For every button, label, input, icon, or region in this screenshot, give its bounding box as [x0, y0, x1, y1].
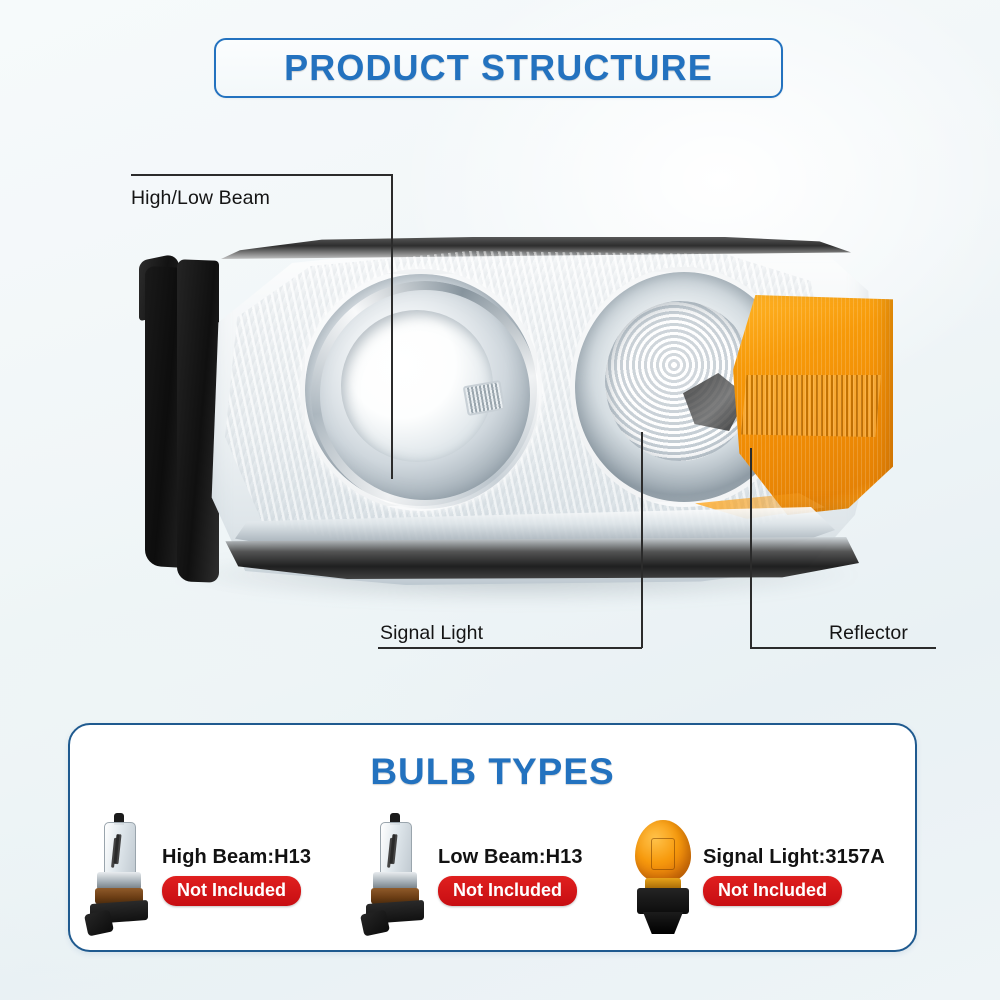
housing-rear-body-2	[177, 259, 219, 582]
amber-reflector-ribs	[741, 375, 881, 437]
infographic-page: PRODUCT STRUCTURE High/Low Beam Signal L…	[0, 0, 1000, 1000]
headlight-assembly-image	[135, 215, 895, 595]
not-included-badge-low-beam: Not Included	[438, 876, 577, 906]
bulb-item-texts: Low Beam:H13 Not Included	[438, 846, 583, 906]
bulb-item-signal-light: Signal Light:3157A Not Included	[625, 820, 901, 932]
callout-label-signal-light: Signal Light	[380, 622, 483, 645]
bulb-types-list: High Beam:H13 Not Included Low Beam:H13 …	[84, 817, 901, 935]
bulb-item-texts: High Beam:H13 Not Included	[162, 846, 311, 906]
product-structure-title-box: PRODUCT STRUCTURE	[214, 38, 783, 98]
bulb-label-high-beam: High Beam:H13	[162, 846, 311, 869]
not-included-badge-high-beam: Not Included	[162, 876, 301, 906]
halogen-bulb-icon	[84, 820, 158, 932]
bulb-item-texts: Signal Light:3157A Not Included	[703, 846, 885, 906]
high-low-beam-leader-vertical	[391, 174, 393, 479]
page-title: PRODUCT STRUCTURE	[284, 47, 713, 89]
bulb-types-panel: BULB TYPES High Beam:H13 Not Included	[68, 723, 917, 952]
signal-light-leader-vertical	[641, 432, 643, 648]
reflector-leader-horizontal	[750, 647, 936, 649]
signal-bulb-icon	[625, 820, 699, 932]
signal-light-lens	[605, 301, 755, 461]
bulb-item-low-beam: Low Beam:H13 Not Included	[360, 820, 625, 932]
reflector-leader-vertical	[750, 448, 752, 648]
bulb-types-title: BULB TYPES	[70, 751, 915, 793]
not-included-badge-signal-light: Not Included	[703, 876, 842, 906]
bulb-item-high-beam: High Beam:H13 Not Included	[84, 820, 360, 932]
lens-bottom-trim	[219, 537, 859, 579]
callout-label-high-low-beam: High/Low Beam	[131, 187, 270, 210]
bulb-label-signal-light: Signal Light:3157A	[703, 846, 885, 869]
signal-light-leader-horizontal	[378, 647, 642, 649]
halogen-bulb-icon	[360, 820, 434, 932]
high-low-beam-leader-horizontal	[131, 174, 393, 176]
bulb-label-low-beam: Low Beam:H13	[438, 846, 583, 869]
callout-label-reflector: Reflector	[829, 622, 908, 645]
